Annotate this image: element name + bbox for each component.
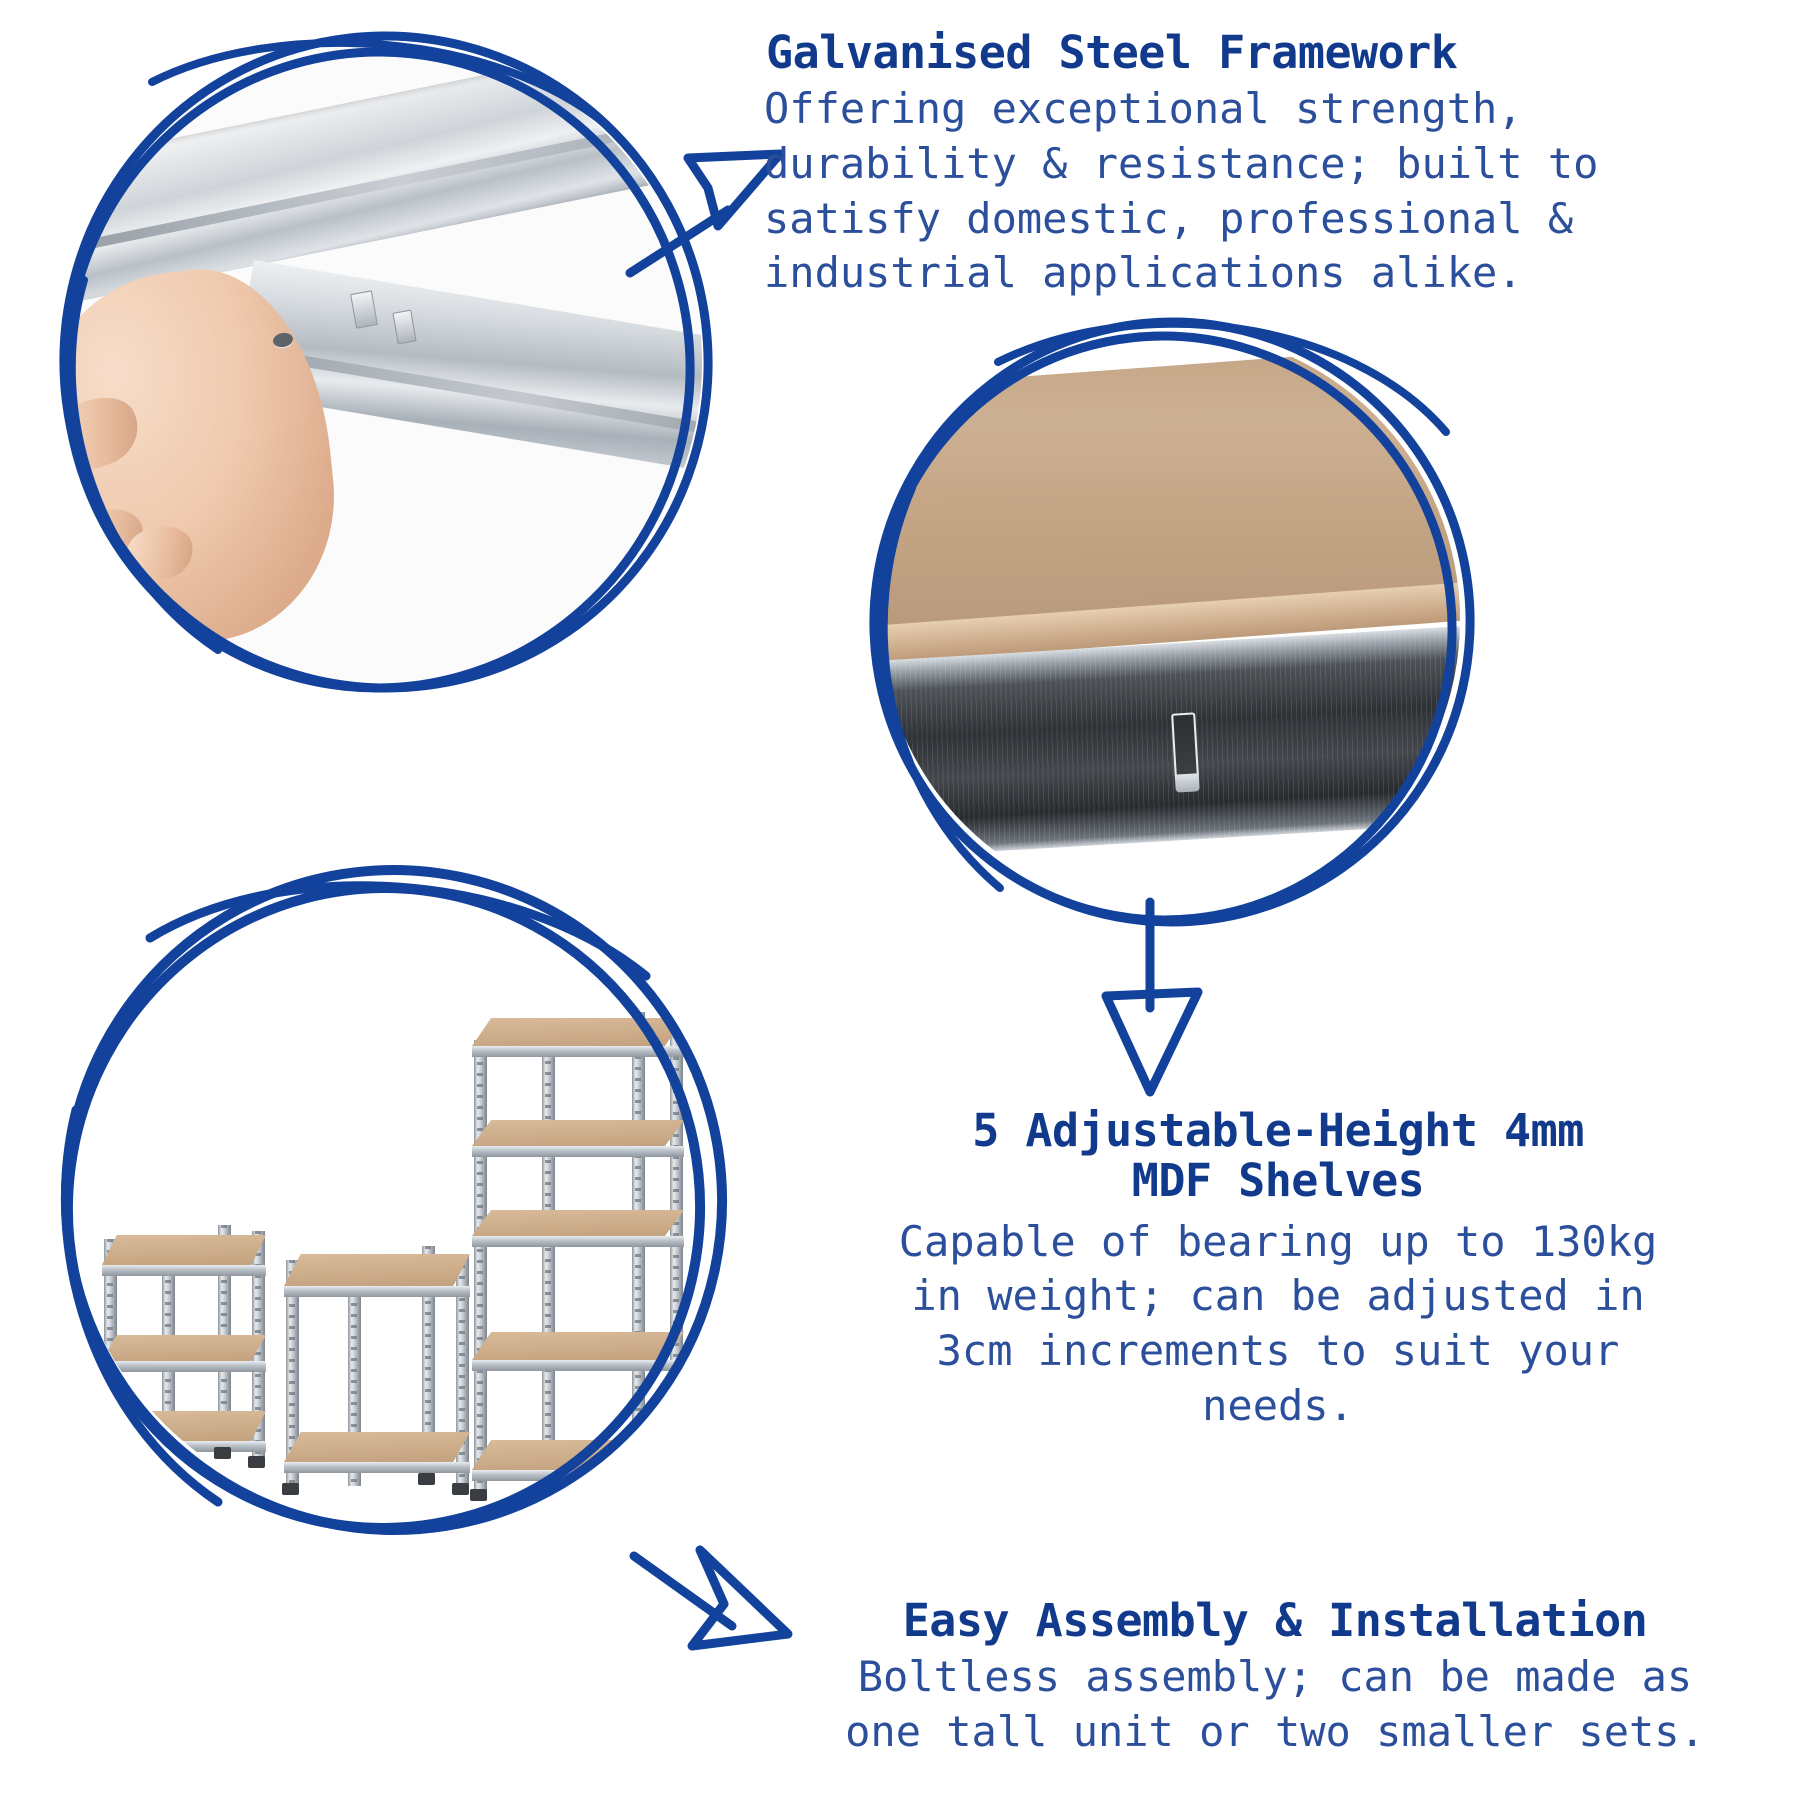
beam-slot bbox=[1171, 712, 1199, 777]
feature-1-heading: Galvanised Steel Framework bbox=[760, 28, 1790, 78]
shelf-foot bbox=[100, 1458, 117, 1470]
finger bbox=[62, 387, 148, 480]
shelf-board bbox=[472, 1018, 684, 1046]
shelf-board bbox=[102, 1411, 266, 1441]
beam-connector-closeup bbox=[62, 42, 702, 682]
shelf-foot bbox=[248, 1456, 265, 1468]
photo-galvanised-beam bbox=[62, 42, 702, 682]
shelf-board bbox=[472, 1440, 684, 1470]
feature-1-body-line: Offering exceptional strength, bbox=[764, 82, 1790, 137]
shelf-foot bbox=[470, 1489, 487, 1501]
feature-2-body-line: 3cm increments to suit your bbox=[760, 1324, 1796, 1379]
shelving-unit-small-1 bbox=[100, 1225, 280, 1470]
shelf-board bbox=[472, 1332, 684, 1360]
feature-2-body-line: in weight; can be adjusted in bbox=[760, 1269, 1796, 1324]
shelf-post bbox=[474, 1040, 487, 1492]
steel-beam-upper bbox=[62, 42, 702, 309]
feature-3-body-line: Boltless assembly; can be made as bbox=[752, 1650, 1798, 1705]
feature-2-body: Capable of bearing up to 130kg in weight… bbox=[760, 1215, 1796, 1433]
shelving-unit-small-2 bbox=[282, 1242, 482, 1492]
feature-2-heading-line: 5 Adjustable-Height 4mm bbox=[760, 1106, 1796, 1156]
feature-1-body-line: durability & resistance; built to bbox=[764, 137, 1790, 192]
shelf-foot bbox=[282, 1483, 299, 1495]
feature-2-body-line: needs. bbox=[760, 1379, 1796, 1434]
mdf-board-edge-closeup bbox=[880, 330, 1460, 910]
feature-2-heading-line: MDF Shelves bbox=[760, 1156, 1796, 1206]
shelf-board bbox=[472, 1210, 684, 1236]
shelf-post bbox=[542, 1050, 555, 1494]
shelf-foot bbox=[418, 1473, 435, 1485]
shelving-units-lineup bbox=[70, 880, 730, 1520]
feature-3-body: Boltless assembly; can be made as one ta… bbox=[752, 1650, 1798, 1759]
infographic-canvas: Galvanised Steel Framework Offering exce… bbox=[0, 0, 1800, 1800]
arrow-down-icon bbox=[1046, 896, 1246, 1106]
shelf-board bbox=[284, 1254, 470, 1286]
shelf-foot bbox=[666, 1491, 683, 1503]
feature-3-body-line: one tall unit or two smaller sets. bbox=[752, 1705, 1798, 1760]
feature-1-body-line: industrial applications alike. bbox=[764, 246, 1790, 301]
shelving-unit-tall bbox=[468, 1012, 698, 1504]
galvanised-beam-face bbox=[880, 621, 1460, 862]
shelf-foot bbox=[214, 1447, 231, 1459]
shelf-board bbox=[102, 1235, 266, 1265]
feature-block-mdf-shelves: 5 Adjustable-Height 4mm MDF Shelves Capa… bbox=[760, 1106, 1796, 1433]
photo-mdf-shelf bbox=[880, 330, 1460, 910]
photo-1-clip bbox=[62, 42, 702, 682]
feature-2-heading: 5 Adjustable-Height 4mm MDF Shelves bbox=[760, 1106, 1796, 1207]
shelf-foot bbox=[628, 1477, 645, 1489]
shelf-board bbox=[472, 1120, 684, 1146]
shelf-post bbox=[670, 1024, 683, 1494]
feature-block-steel-framework: Galvanised Steel Framework Offering exce… bbox=[760, 28, 1790, 301]
photo-shelving-units bbox=[70, 880, 730, 1520]
feature-2-body-line: Capable of bearing up to 130kg bbox=[760, 1215, 1796, 1270]
feature-block-easy-assembly: Easy Assembly & Installation Boltless as… bbox=[752, 1596, 1798, 1760]
shelf-board bbox=[284, 1432, 470, 1462]
photo-3-clip bbox=[70, 880, 730, 1520]
shelf-board bbox=[102, 1335, 266, 1361]
feature-1-body: Offering exceptional strength, durabilit… bbox=[760, 82, 1790, 300]
feature-1-body-line: satisfy domestic, professional & bbox=[764, 192, 1790, 247]
feature-3-heading: Easy Assembly & Installation bbox=[752, 1596, 1798, 1646]
photo-2-clip bbox=[880, 330, 1460, 910]
shelf-foot bbox=[452, 1483, 469, 1495]
